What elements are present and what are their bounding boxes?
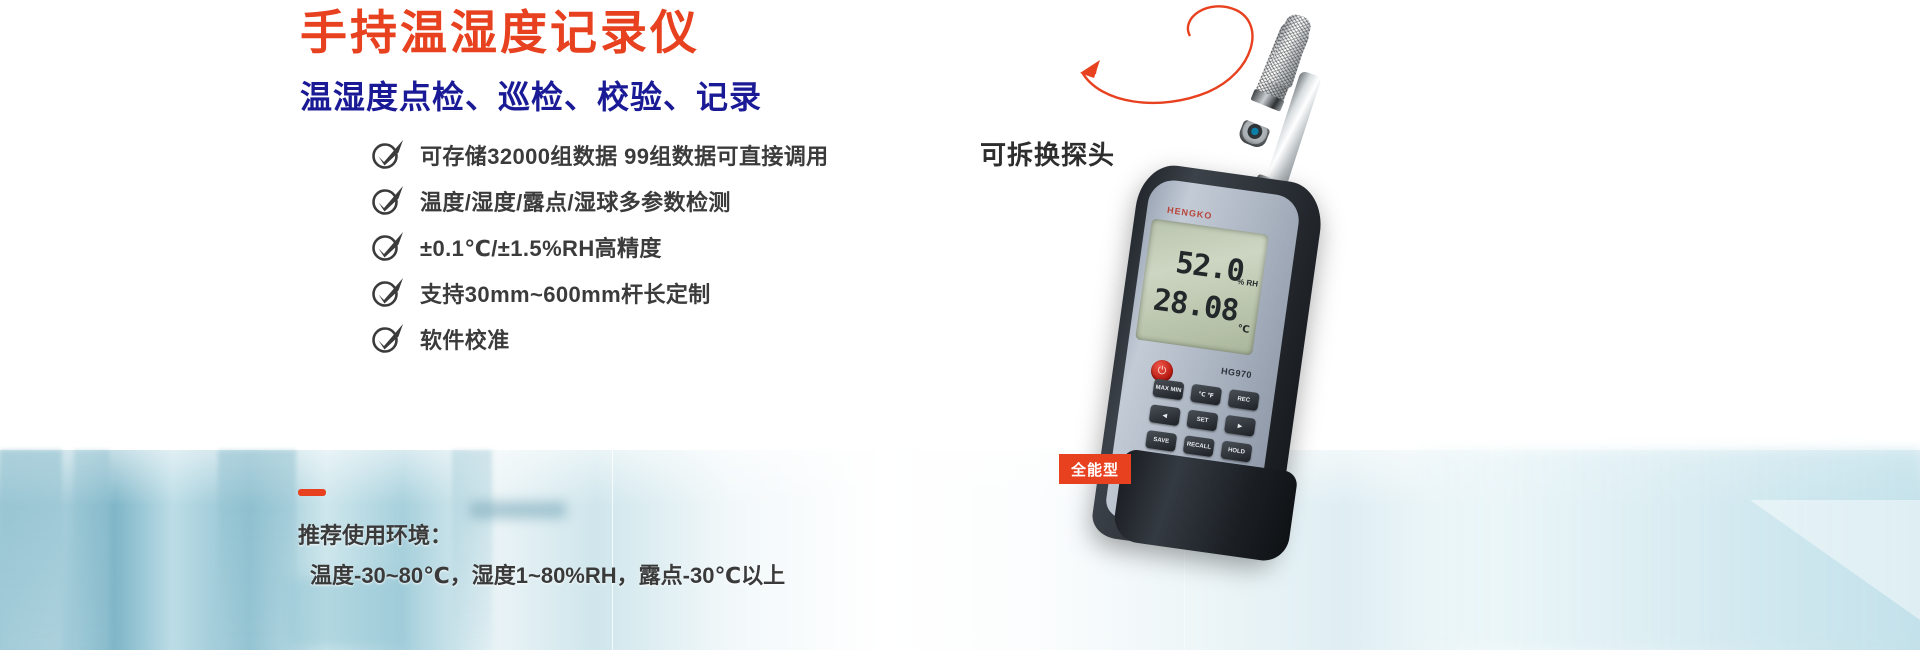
list-item-label: 可存储32000组数据 99组数据可直接调用 — [420, 139, 829, 171]
handheld-meter-image: HENGKO 52.0 % RH 28.08 ℃ ⏻ HG970 MAX MIN… — [1055, 60, 1395, 620]
key-set[interactable]: SET — [1186, 409, 1218, 431]
page-title: 手持温湿度记录仪 — [300, 6, 700, 60]
list-item: ±0.1℃/±1.5%RH高精度 — [370, 224, 990, 270]
device-lcd-screen: 52.0 % RH 28.08 ℃ — [1135, 218, 1269, 355]
bottom-photo-band — [0, 450, 1920, 650]
key-rec[interactable]: REC — [1228, 389, 1260, 411]
key-right[interactable]: ▶ — [1224, 415, 1256, 437]
key-hold[interactable]: HOLD — [1220, 441, 1252, 463]
check-circle-icon — [370, 322, 406, 354]
status-badge: 全能型 — [1059, 454, 1131, 484]
list-item: 支持30mm~600mm杆长定制 — [370, 270, 990, 316]
list-item: 可存储32000组数据 99组数据可直接调用 — [370, 132, 990, 178]
key-left[interactable]: ◀ — [1149, 404, 1181, 426]
check-circle-icon — [370, 230, 406, 262]
list-item-label: 软件校准 — [420, 323, 510, 355]
list-item: 软件校准 — [370, 316, 990, 362]
list-item-label: ±0.1℃/±1.5%RH高精度 — [420, 231, 662, 263]
list-item: 温度/湿度/露点/湿球多参数检测 — [370, 178, 990, 224]
red-dash-divider — [298, 489, 326, 496]
key-unit[interactable]: ℃ ℉ — [1190, 384, 1222, 406]
check-circle-icon — [370, 276, 406, 308]
check-circle-icon — [370, 138, 406, 170]
lcd-temperature-unit: ℃ — [1237, 323, 1251, 336]
glass-reflection — [1750, 500, 1920, 620]
list-item-label: 温度/湿度/露点/湿球多参数检测 — [420, 185, 731, 217]
key-save[interactable]: SAVE — [1145, 430, 1177, 452]
key-maxmin[interactable]: MAX MIN — [1152, 378, 1184, 400]
feature-list: 可存储32000组数据 99组数据可直接调用 温度/湿度/露点/湿球多参数检测 … — [370, 132, 990, 362]
check-circle-icon — [370, 184, 406, 216]
environment-title: 推荐使用环境： — [298, 518, 452, 550]
list-item-label: 支持30mm~600mm杆长定制 — [420, 277, 711, 309]
product-banner: 手持温湿度记录仪 温湿度点检、巡检、校验、记录 可存储32000组数据 99组数… — [0, 0, 1920, 650]
page-subtitle: 温湿度点检、巡检、校验、记录 — [300, 78, 762, 116]
environment-detail: 温度-30~80℃，湿度1~80%RH，露点-30℃以上 — [310, 558, 785, 590]
key-recall[interactable]: RECALL — [1183, 435, 1215, 457]
